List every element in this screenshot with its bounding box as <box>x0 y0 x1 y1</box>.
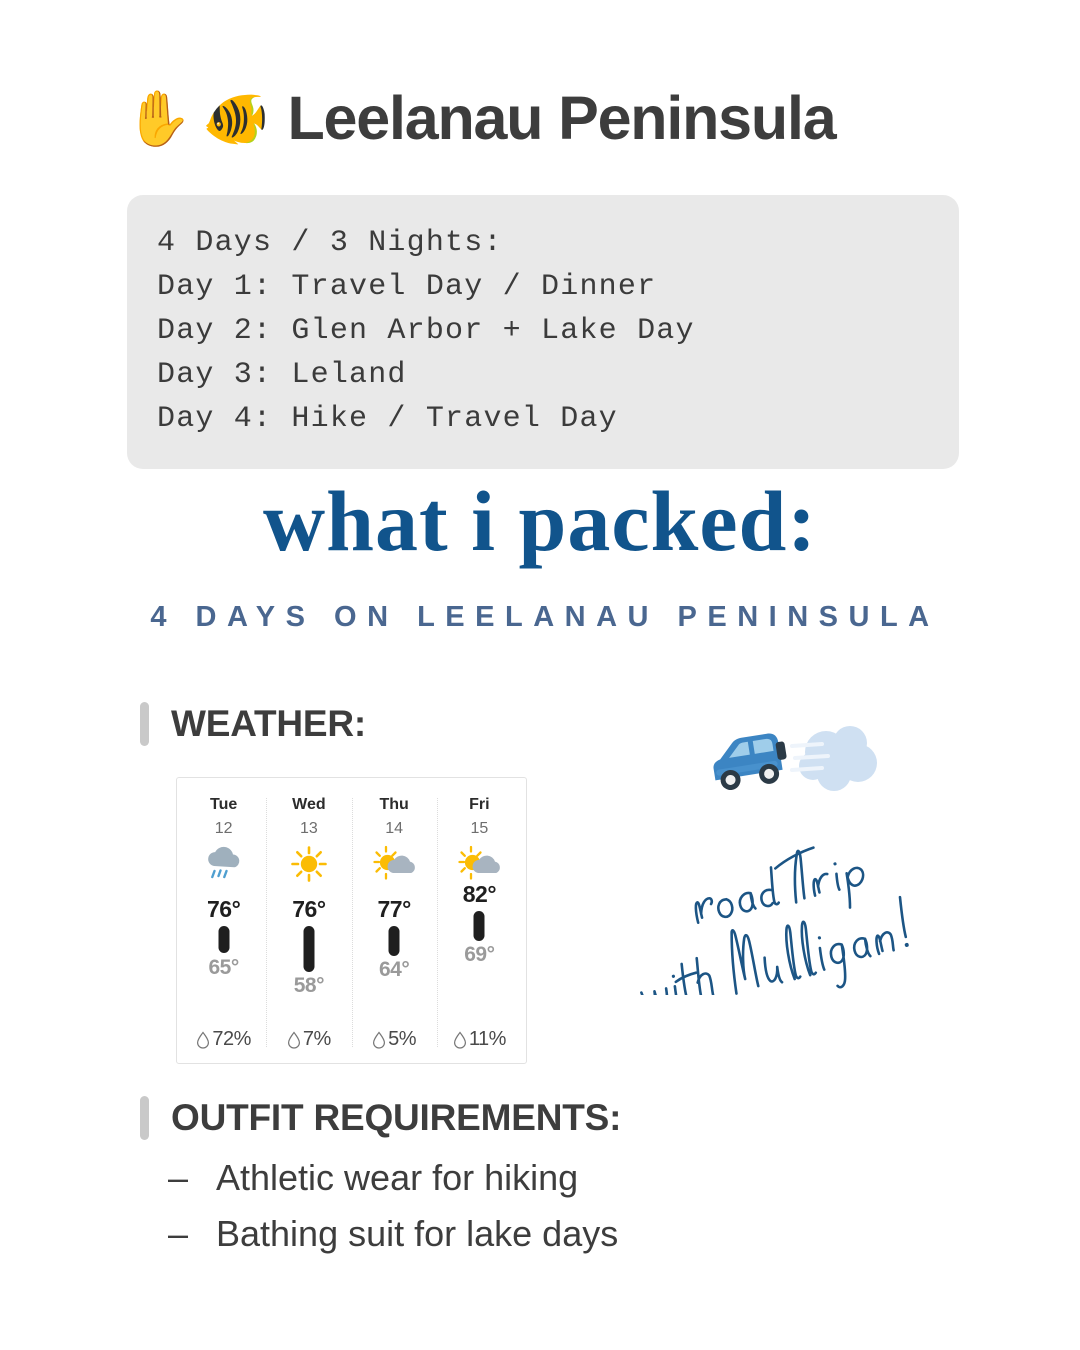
temp-range-bar <box>474 911 485 941</box>
sun-icon <box>288 842 330 886</box>
packed-heading: what i packed: <box>0 478 1080 564</box>
weather-day-column: Fri 15 82° <box>437 792 522 1053</box>
weather-high-temp: 82° <box>437 881 522 908</box>
weather-section-heading: WEATHER: <box>140 702 366 746</box>
weather-low-temp: 65° <box>181 956 266 980</box>
list-item-label: Athletic wear for hiking <box>216 1150 578 1206</box>
outfit-section-title: OUTFIT REQUIREMENTS: <box>171 1097 621 1139</box>
accent-bar-icon <box>140 1096 149 1140</box>
rain-cloud-icon <box>203 842 245 886</box>
weather-temp-range: 76° 58° <box>266 894 351 990</box>
water-drop-icon <box>372 1031 386 1049</box>
weather-day-name: Fri <box>469 796 489 814</box>
partly-cloudy-icon <box>457 842 501 886</box>
itinerary-line: 4 Days / 3 Nights: <box>157 221 929 265</box>
list-item: – Bathing suit for lake days <box>168 1206 868 1262</box>
weather-section-title: WEATHER: <box>171 703 366 745</box>
itinerary-line: Day 1: Travel Day / Dinner <box>157 265 929 309</box>
itinerary-line: Day 2: Glen Arbor + Lake Day <box>157 309 929 353</box>
weather-precip-value: 72% <box>212 1028 251 1051</box>
weather-day-date: 14 <box>385 820 403 838</box>
temp-range-bar <box>389 926 400 956</box>
weather-day-name: Thu <box>379 796 408 814</box>
tropical-fish-icon: 🐠 <box>202 92 269 146</box>
accent-bar-icon <box>140 702 149 746</box>
weather-temp-range: 76° 65° <box>181 894 266 990</box>
poster-canvas: ✋ 🐠 Leelanau Peninsula 4 Days / 3 Nights… <box>0 0 1080 1350</box>
itinerary-box: 4 Days / 3 Nights: Day 1: Travel Day / D… <box>127 195 959 469</box>
weather-low-temp: 58° <box>266 974 351 998</box>
weather-low-temp: 64° <box>352 958 437 982</box>
temp-range-bar <box>303 926 314 972</box>
raised-hand-icon: ✋ <box>125 92 192 146</box>
page-title: ✋ 🐠 Leelanau Peninsula <box>125 88 835 149</box>
partly-cloudy-icon <box>372 842 416 886</box>
water-drop-icon <box>453 1031 467 1049</box>
weather-precipitation: 72% <box>196 1028 251 1053</box>
list-item-label: Bathing suit for lake days <box>216 1206 618 1262</box>
weather-high-temp: 77° <box>352 896 437 923</box>
weather-day-date: 12 <box>215 820 233 838</box>
outfit-requirements-list: – Athletic wear for hiking – Bathing sui… <box>168 1150 868 1262</box>
water-drop-icon <box>196 1031 210 1049</box>
weather-precipitation: 11% <box>453 1028 506 1053</box>
itinerary-line: Day 4: Hike / Travel Day <box>157 397 929 441</box>
water-drop-icon <box>287 1031 301 1049</box>
weather-precipitation: 5% <box>372 1028 416 1053</box>
weather-low-temp: 69° <box>437 943 522 967</box>
weather-day-name: Tue <box>210 796 237 814</box>
weather-high-temp: 76° <box>181 896 266 923</box>
weather-day-column: Thu 14 77° <box>352 792 437 1053</box>
weather-temp-range: 77° 64° <box>352 894 437 990</box>
weather-day-name: Wed <box>292 796 325 814</box>
weather-precip-value: 5% <box>388 1028 416 1051</box>
weather-day-date: 13 <box>300 820 318 838</box>
temp-range-bar <box>218 926 229 953</box>
weather-day-date: 15 <box>470 820 488 838</box>
list-dash-icon: – <box>168 1206 216 1262</box>
roadtrip-script-text <box>600 805 1020 995</box>
packed-subheading: 4 DAYS ON LEELANAU PENINSULA <box>0 601 1080 634</box>
weather-forecast-widget: Tue 12 76° 65° 72% <box>176 777 527 1064</box>
itinerary-line: Day 3: Leland <box>157 353 929 397</box>
weather-day-column: Wed 13 76° <box>266 792 351 1053</box>
weather-temp-range: 82° 69° <box>437 894 522 990</box>
list-dash-icon: – <box>168 1150 216 1206</box>
weather-precip-value: 7% <box>303 1028 331 1051</box>
weather-precipitation: 7% <box>287 1028 331 1053</box>
page-title-text: Leelanau Peninsula <box>288 88 836 149</box>
weather-day-column: Tue 12 76° 65° 72% <box>181 792 266 1053</box>
weather-high-temp: 76° <box>266 896 351 923</box>
list-item: – Athletic wear for hiking <box>168 1150 868 1206</box>
outfit-section-heading: OUTFIT REQUIREMENTS: <box>140 1096 621 1140</box>
weather-precip-value: 11% <box>469 1028 506 1051</box>
